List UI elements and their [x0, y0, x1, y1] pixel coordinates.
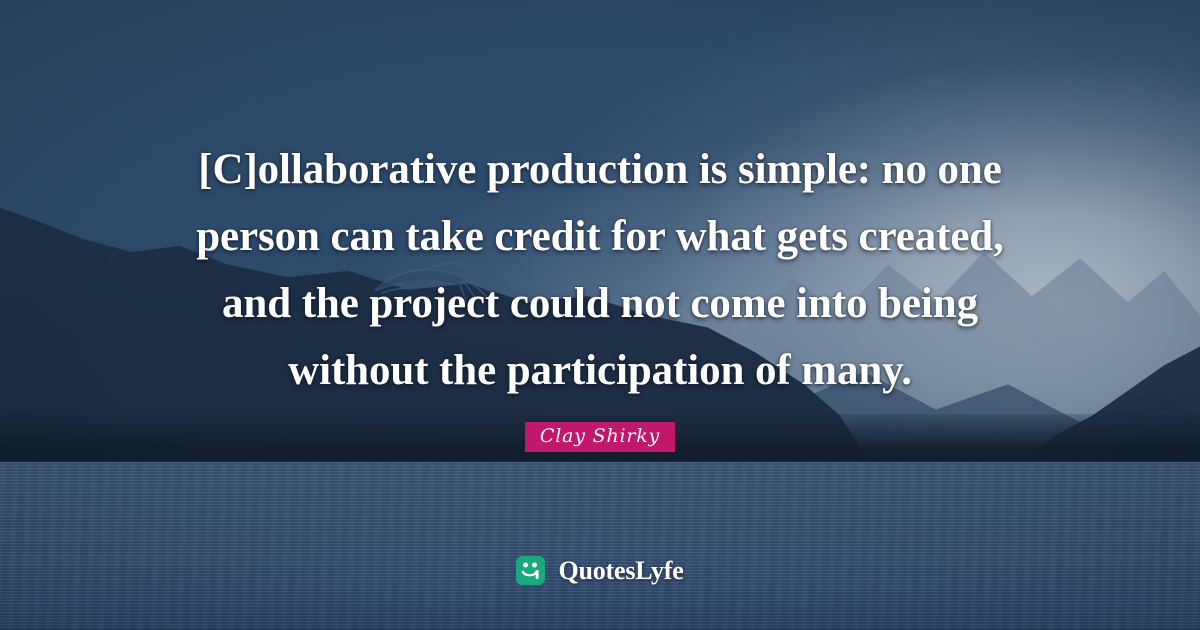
quote-line-3: and the project could not come into bein…: [0, 270, 1200, 337]
author-name-badge[interactable]: Clay Shirky: [525, 422, 675, 452]
quote-line-4: without the participation of many.: [0, 337, 1200, 404]
site-name: QuotesLyfe: [558, 556, 683, 585]
quote-marks-icon: [516, 556, 545, 585]
quote-line-1: [C]ollaborative production is simple: no…: [0, 136, 1200, 203]
quote-line-2: person can take credit for what gets cre…: [0, 203, 1200, 270]
author-attribution: Clay Shirky: [0, 422, 1200, 452]
site-branding[interactable]: QuotesLyfe: [0, 556, 1200, 585]
quote-image-card: [C]ollaborative production is simple: no…: [0, 0, 1200, 630]
lake-water: [0, 462, 1200, 630]
quote-text: [C]ollaborative production is simple: no…: [0, 136, 1200, 404]
